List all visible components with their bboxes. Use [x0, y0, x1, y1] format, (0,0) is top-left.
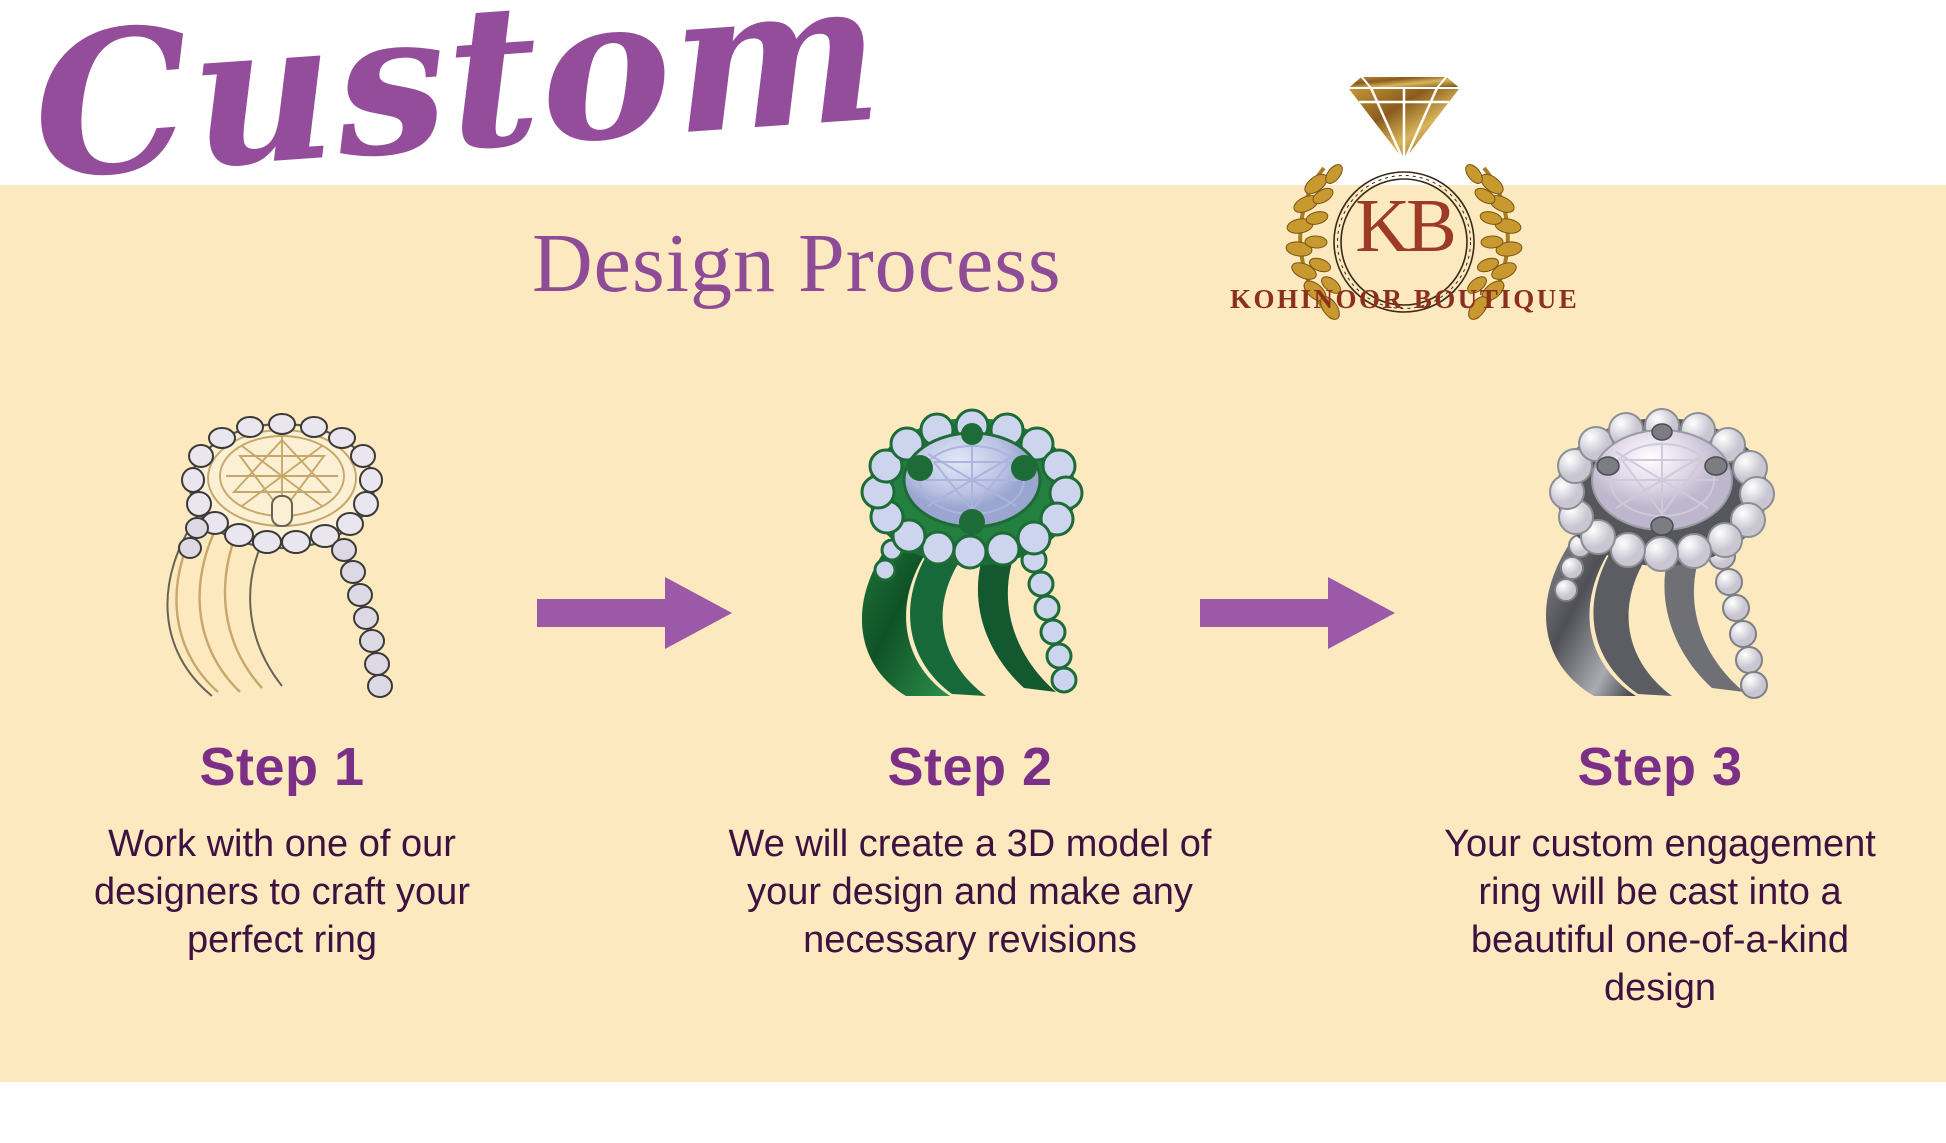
ring-finished-photo	[1390, 400, 1930, 700]
step-column-3: Step 3 Your custom engagement ring will …	[1390, 400, 1930, 1012]
ring-sketch-svg	[122, 400, 442, 700]
step-description: Your custom engagement ring will be cast…	[1390, 820, 1930, 1012]
logo-brand-name: KOHINOOR BOUTIQUE	[1230, 284, 1578, 315]
infographic-canvas: Custom Design Process	[0, 0, 1946, 1143]
step-title: Step 1	[12, 736, 552, 798]
step-description: Work with one of our designers to craft …	[12, 820, 552, 964]
ring-photo-svg	[1500, 400, 1820, 700]
step-column-1: Step 1 Work with one of our designers to…	[12, 400, 552, 964]
ring-cad-svg	[810, 400, 1130, 700]
step-title: Step 3	[1390, 736, 1930, 798]
ring-cad-model	[700, 400, 1240, 700]
logo-monogram: KB	[1248, 188, 1560, 264]
page-subtitle: Design Process	[532, 216, 1072, 312]
bottom-white-band	[0, 1082, 1946, 1143]
brand-logo: KB KOHINOOR BOUTIQUE	[1248, 62, 1560, 312]
step-description: We will create a 3D model of your design…	[700, 820, 1240, 964]
ring-sketch-illustration	[12, 400, 552, 700]
step-column-2: Step 2 We will create a 3D model of your…	[700, 400, 1240, 964]
arrow-step2-to-step3	[1200, 575, 1395, 651]
step-title: Step 2	[700, 736, 1240, 798]
